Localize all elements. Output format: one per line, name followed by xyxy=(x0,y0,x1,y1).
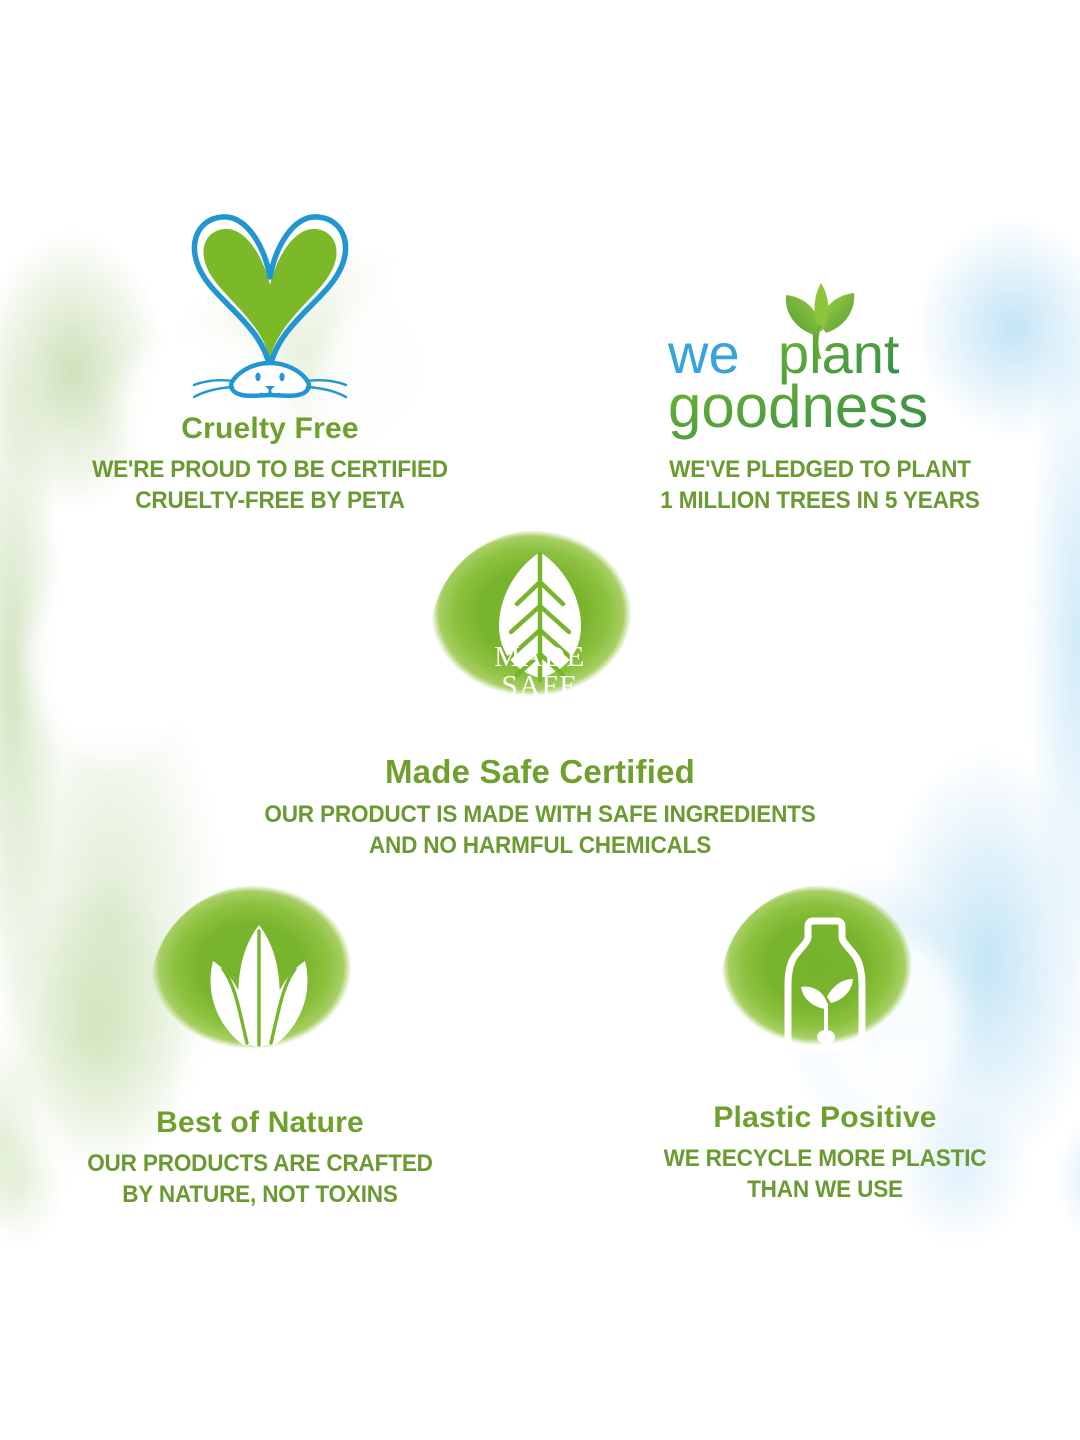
feature-description: OUR PRODUCTS ARE CRAFTED BY NATURE, NOT … xyxy=(25,1149,495,1210)
feature-description-line: CRUELTY-FREE BY PETA xyxy=(135,487,405,514)
made-safe-badge-text: MADE SAFE xyxy=(431,643,649,701)
feature-made-safe-certified: MADE SAFE Made Safe Certified OUR PRODUC… xyxy=(140,530,940,862)
made-safe-line: SAFE xyxy=(502,670,579,702)
feature-description-line: THAN WE USE xyxy=(747,1176,903,1203)
feature-title: Best of Nature xyxy=(10,1106,510,1139)
made-safe-leaf-badge-icon: MADE SAFE xyxy=(431,530,649,738)
feature-title: Made Safe Certified xyxy=(140,754,940,790)
feature-best-of-nature: Best of Nature OUR PRODUCTS ARE CRAFTED … xyxy=(10,885,510,1210)
bottle-sprout-badge-icon xyxy=(721,885,929,1085)
feature-description: WE'RE PROUD TO BE CERTIFIED CRUELTY-FREE… xyxy=(35,455,505,516)
feature-description-line: OUR PRODUCT IS MADE WITH SAFE INGREDIENT… xyxy=(264,801,815,828)
logo-word-goodness: goodness xyxy=(668,373,928,440)
feature-plastic-positive: Plastic Positive WE RECYCLE MORE PLASTIC… xyxy=(605,885,1045,1205)
three-leaves-glyph xyxy=(151,885,369,1090)
infographic-canvas: Cruelty Free WE'RE PROUD TO BE CERTIFIED… xyxy=(0,0,1080,1440)
we-plant-goodness-logo: we plant goodness xyxy=(650,275,990,445)
made-safe-line: MADE xyxy=(494,641,585,673)
feature-description: WE'VE PLEDGED TO PLANT 1 MILLION TREES I… xyxy=(613,455,1027,516)
feature-description: WE RECYCLE MORE PLASTIC THAN WE USE xyxy=(618,1144,1032,1205)
made-safe-leaf-glyph xyxy=(431,530,649,738)
features-grid: Cruelty Free WE'RE PROUD TO BE CERTIFIED… xyxy=(0,0,1080,1440)
feature-description-line: WE RECYCLE MORE PLASTIC xyxy=(664,1145,987,1172)
feature-title: Cruelty Free xyxy=(20,412,520,445)
feature-description-line: OUR PRODUCTS ARE CRAFTED xyxy=(87,1150,433,1177)
bottle-sprout-glyph xyxy=(721,885,929,1085)
feature-description-line: AND NO HARMFUL CHEMICALS xyxy=(369,832,711,859)
feature-description-line: WE'VE PLEDGED TO PLANT xyxy=(669,456,971,483)
feature-description: OUR PRODUCT IS MADE WITH SAFE INGREDIENT… xyxy=(164,800,916,861)
feature-cruelty-free: Cruelty Free WE'RE PROUD TO BE CERTIFIED… xyxy=(20,205,520,516)
feature-we-plant-goodness: we plant goodness WE'VE PLEDGED TO PLANT… xyxy=(600,275,1040,516)
feature-title: Plastic Positive xyxy=(605,1101,1045,1134)
three-leaves-badge-icon xyxy=(151,885,369,1090)
peta-bunny-heart-icon xyxy=(170,205,370,400)
feature-description-line: WE'RE PROUD TO BE CERTIFIED xyxy=(92,456,448,483)
feature-description-line: BY NATURE, NOT TOXINS xyxy=(122,1181,398,1208)
feature-description-line: 1 MILLION TREES IN 5 YEARS xyxy=(660,487,979,514)
